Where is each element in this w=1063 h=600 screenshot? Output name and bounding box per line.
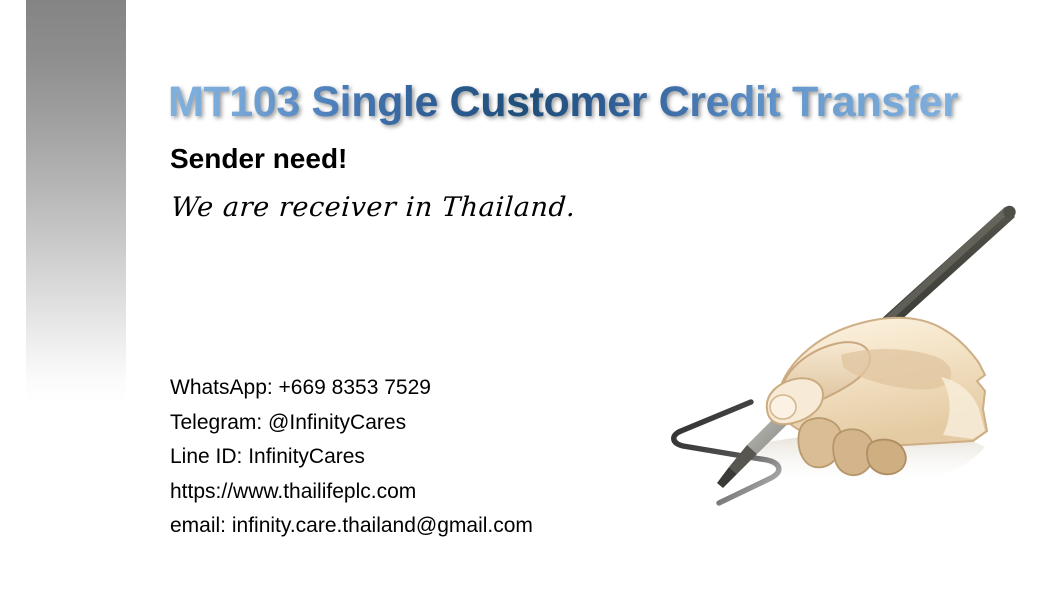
hand-writing-with-pen-illustration xyxy=(655,195,1025,525)
headline-text: Sender need! xyxy=(170,143,347,175)
contact-line-whatsapp: WhatsApp: +669 8353 7529 xyxy=(170,371,533,406)
contact-line-telegram: Telegram: @InfinityCares xyxy=(170,406,533,441)
slide-canvas: MT103 Single Customer Credit Transfer Se… xyxy=(0,0,1063,600)
page-title: MT103 Single Customer Credit Transfer xyxy=(168,78,958,127)
script-subtitle-text: We are receiver in Thailand. xyxy=(170,192,577,223)
contact-line-website[interactable]: https://www.thailifeplc.com xyxy=(170,475,533,510)
contact-line-lineid: Line ID: InfinityCares xyxy=(170,440,533,475)
contact-info-block: WhatsApp: +669 8353 7529 Telegram: @Infi… xyxy=(170,371,533,544)
contact-line-email[interactable]: email: infinity.care.thailand@gmail.com xyxy=(170,509,533,544)
decorative-gradient-band xyxy=(26,0,126,404)
